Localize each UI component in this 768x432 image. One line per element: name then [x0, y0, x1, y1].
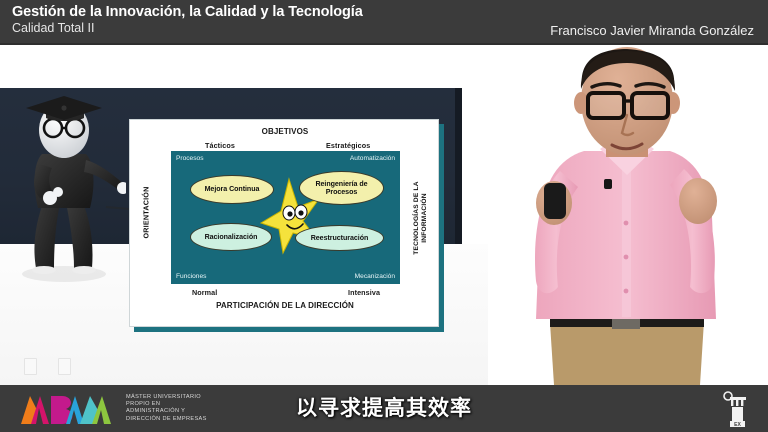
bubble-racionalizacion: Racionalización — [190, 223, 272, 251]
matrix-corner-procesos: Procesos — [176, 155, 204, 162]
bubble-reestructuracion: Reestructuración — [295, 225, 384, 251]
uex-logo: EX — [722, 389, 754, 429]
subtitle-caption: 以寻求提高其效率 — [0, 392, 768, 422]
previous-slide-icon[interactable] — [24, 358, 37, 375]
course-title: Gestión de la Innovación, la Calidad y l… — [12, 4, 363, 20]
diagram-label-intensiva: Intensiva — [348, 288, 380, 297]
header-bar: Gestión de la Innovación, la Calidad y l… — [0, 0, 768, 45]
matrix-corner-mecanizacion: Mecanización — [355, 273, 395, 280]
svg-text:EX: EX — [734, 422, 741, 428]
diagram-matrix-panel: Procesos Automatización Funciones Mecani… — [171, 151, 400, 284]
diagram-title-bottom: PARTICIPACIÓN DE LA DIRECCIÓN — [130, 301, 439, 310]
graduate-avatar — [6, 92, 126, 292]
bubble-mejora-continua: Mejora Continua — [190, 175, 274, 204]
matrix-corner-funciones: Funciones — [176, 273, 206, 280]
player-controls[interactable] — [24, 358, 104, 380]
diagram-axis-orientacion: ORIENTACIÓN — [142, 177, 151, 249]
slide-card[interactable]: OBJETIVOS Tácticos Estratégicos Normal I… — [129, 119, 439, 327]
bubble-reingenieria-de-procesos: Reingeniería de Procesos — [299, 171, 384, 205]
studio-backdrop-edge — [455, 88, 462, 248]
diagram-title-top: OBJETIVOS — [130, 127, 439, 136]
diagram-label-estrategicos: Estratégicos — [326, 141, 370, 150]
diagram-label-normal: Normal — [192, 288, 217, 297]
video-player-stage: Gestión de la Innovación, la Calidad y l… — [0, 0, 768, 432]
diagram-label-tacticos: Tácticos — [205, 141, 235, 150]
presenter-name: Francisco Javier Miranda González — [550, 23, 754, 38]
lesson-subtitle: Calidad Total II — [12, 21, 363, 35]
header-titles: Gestión de la Innovación, la Calidad y l… — [12, 4, 363, 35]
next-slide-icon[interactable] — [58, 358, 71, 375]
diagram-axis-tecnologias-informacion: TECNOLOGÍAS DE LA INFORMACIÓN — [413, 175, 429, 261]
presenter-video — [488, 45, 768, 385]
matrix-corner-automatizacion: Automatización — [350, 155, 395, 162]
